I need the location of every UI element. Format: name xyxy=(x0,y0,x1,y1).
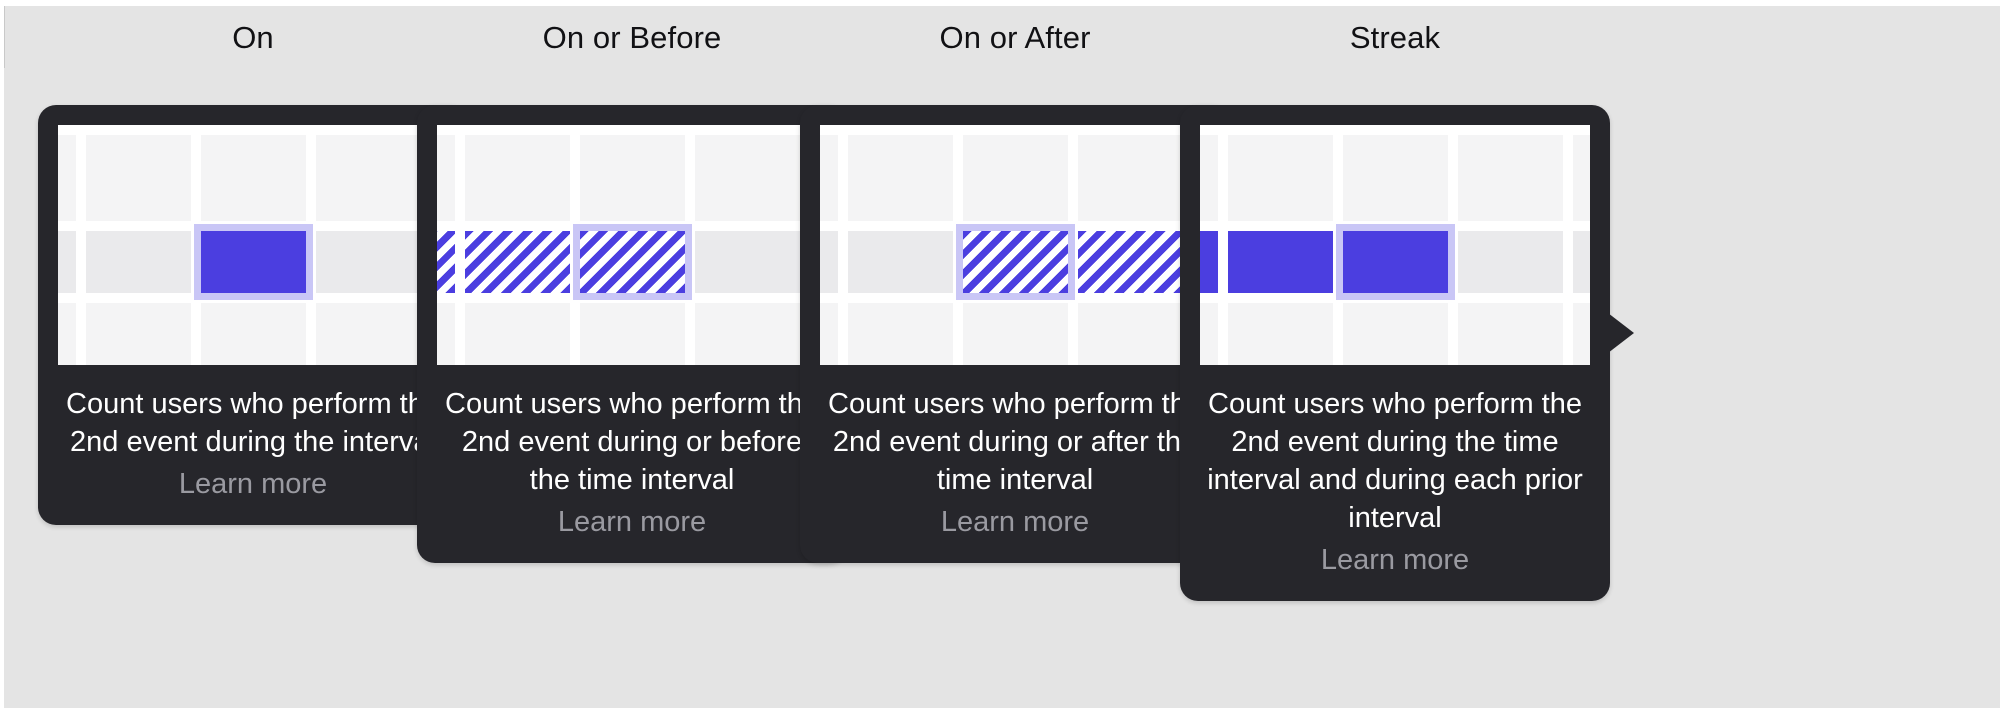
column-header-on: On xyxy=(38,18,468,58)
highlight-hatch xyxy=(437,231,455,293)
grid-cell xyxy=(1200,303,1218,365)
grid-cell xyxy=(1343,135,1448,221)
card-description-streak: Count users who perform the 2nd event du… xyxy=(1200,385,1590,537)
highlight-block xyxy=(1343,231,1448,293)
grid-cell xyxy=(316,135,421,221)
highlight-hatch xyxy=(465,231,570,293)
grid-cell xyxy=(1458,303,1563,365)
grid-cell xyxy=(1200,135,1218,221)
grid-cell xyxy=(695,135,800,221)
highlight-block xyxy=(201,231,306,293)
diagram-stage: On xyxy=(0,0,2000,721)
grid-cell xyxy=(695,303,800,365)
grid-cell xyxy=(1458,231,1563,293)
grid-cell xyxy=(1228,135,1333,221)
grid-cell xyxy=(1078,135,1183,221)
card-wrap-streak: Count users who perform the 2nd event du… xyxy=(1180,105,1610,601)
grid-cell xyxy=(1343,303,1448,365)
grid-cell xyxy=(58,231,76,293)
learn-more-link-streak[interactable]: Learn more xyxy=(1200,541,1590,579)
grid-cell xyxy=(316,303,421,365)
grid-cell xyxy=(580,135,685,221)
learn-more-link-on[interactable]: Learn more xyxy=(58,465,448,503)
viz-on-or-after xyxy=(820,125,1210,365)
grid-cell xyxy=(58,135,76,221)
grid-cell xyxy=(695,231,800,293)
grid-cell xyxy=(963,135,1068,221)
grid-cell xyxy=(437,303,455,365)
grid-cell xyxy=(201,303,306,365)
tooltip-card-on-or-before: Count users who perform the 2nd event du… xyxy=(417,105,847,563)
learn-more-link-on-or-before[interactable]: Learn more xyxy=(437,503,827,541)
card-wrap-on: Count users who perform the 2nd event du… xyxy=(38,105,468,525)
left-edge-rule xyxy=(4,6,5,68)
viz-on xyxy=(58,125,448,365)
column-header-on-or-before: On or Before xyxy=(417,18,847,58)
grid-cell xyxy=(465,135,570,221)
tooltip-card-on: Count users who perform the 2nd event du… xyxy=(38,105,468,525)
grid-cell xyxy=(580,303,685,365)
highlight-block xyxy=(1200,231,1218,293)
grid-cell xyxy=(820,135,838,221)
grid-cell xyxy=(1573,135,1590,221)
grid-cell xyxy=(963,303,1068,365)
card-wrap-on-or-before: Count users who perform the 2nd event du… xyxy=(417,105,847,563)
column-header-on-or-after: On or After xyxy=(800,18,1230,58)
learn-more-link-on-or-after[interactable]: Learn more xyxy=(820,503,1210,541)
grid-cell xyxy=(201,135,306,221)
card-wrap-on-or-after: Count users who perform the 2nd event du… xyxy=(800,105,1230,563)
grid-cell xyxy=(316,231,421,293)
grid-cell xyxy=(820,303,838,365)
viz-streak xyxy=(1200,125,1590,365)
grid-cell xyxy=(820,231,838,293)
grid-cell xyxy=(848,231,953,293)
card-description-on-or-before: Count users who perform the 2nd event du… xyxy=(437,385,827,499)
highlight-hatch xyxy=(1078,231,1183,293)
grid-cell xyxy=(848,135,953,221)
grid-cell xyxy=(1573,231,1590,293)
card-description-on-or-after: Count users who perform the 2nd event du… xyxy=(820,385,1210,499)
grid-cell xyxy=(1573,303,1590,365)
grid-cell xyxy=(437,135,455,221)
card-tail-icon xyxy=(1608,313,1634,353)
grid-cell xyxy=(465,303,570,365)
card-description-on: Count users who perform the 2nd event du… xyxy=(58,385,448,461)
grid-cell xyxy=(1078,303,1183,365)
grid-cell xyxy=(58,303,76,365)
viz-on-or-before xyxy=(437,125,827,365)
highlight-hatch xyxy=(580,231,685,293)
highlight-block xyxy=(1228,231,1333,293)
grid-cell xyxy=(848,303,953,365)
column-header-streak: Streak xyxy=(1180,18,1610,58)
highlight-hatch xyxy=(963,231,1068,293)
grid-cell xyxy=(1228,303,1333,365)
grid-cell xyxy=(86,231,191,293)
grid-cell xyxy=(1458,135,1563,221)
tooltip-card-on-or-after: Count users who perform the 2nd event du… xyxy=(800,105,1230,563)
grid-cell xyxy=(86,135,191,221)
tooltip-card-streak: Count users who perform the 2nd event du… xyxy=(1180,105,1610,601)
grid-cell xyxy=(86,303,191,365)
